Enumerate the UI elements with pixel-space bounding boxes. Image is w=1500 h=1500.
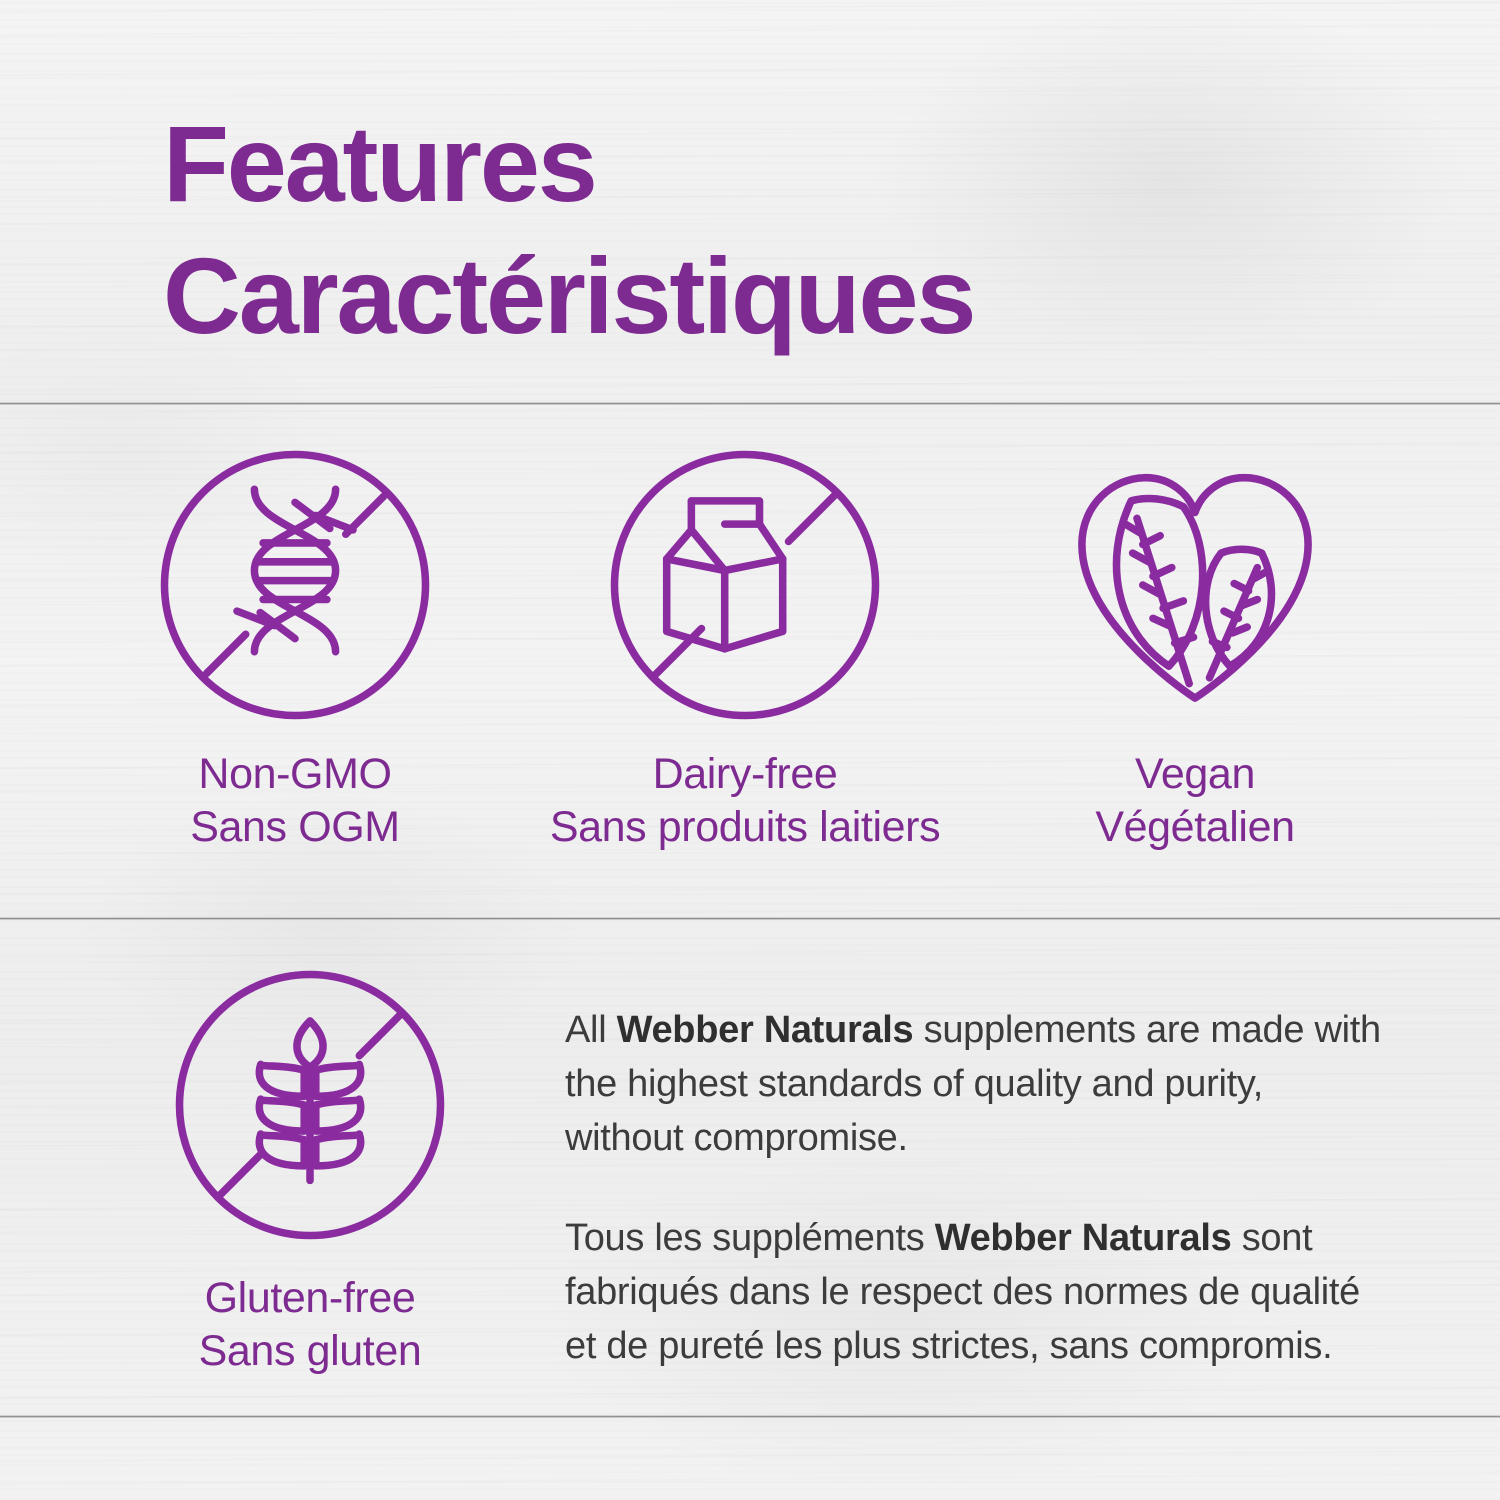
feature-label-gluten-free: Gluten-free Sans gluten bbox=[199, 1272, 422, 1378]
feature-label-fr: Sans gluten bbox=[199, 1325, 422, 1378]
no-dairy-milk-carton-icon bbox=[595, 440, 895, 730]
feature-gluten-free: Gluten-free Sans gluten bbox=[75, 960, 545, 1378]
no-gmo-dna-icon bbox=[145, 440, 445, 730]
features-row-top: Non-GMO Sans OGM Dairy- bbox=[0, 440, 1500, 854]
quality-statement-french: Tous les suppléments Webber Naturals son… bbox=[565, 1212, 1390, 1374]
feature-non-gmo: Non-GMO Sans OGM bbox=[75, 440, 515, 854]
page-title-french: Caractéristiques bbox=[163, 230, 1363, 362]
feature-label-en: Gluten-free bbox=[199, 1272, 422, 1325]
feature-label-en: Dairy-free bbox=[550, 748, 940, 801]
feature-label-vegan: Vegan Végétalien bbox=[1095, 748, 1294, 854]
quality-statement-english: All Webber Naturals supplements are made… bbox=[565, 1004, 1390, 1166]
features-panel: Features Caractéristiques bbox=[0, 0, 1500, 1500]
plank-divider-3 bbox=[0, 1415, 1500, 1418]
feature-label-fr: Sans OGM bbox=[190, 801, 399, 854]
vegan-heart-leaf-icon bbox=[1045, 440, 1345, 730]
plank-divider-1 bbox=[0, 402, 1500, 405]
feature-dairy-free: Dairy-free Sans produits laitiers bbox=[525, 440, 965, 854]
feature-label-fr: Végétalien bbox=[1095, 801, 1294, 854]
brand-name-fr: Webber Naturals bbox=[935, 1217, 1232, 1259]
feature-label-en: Non-GMO bbox=[190, 748, 399, 801]
features-row-bottom: Gluten-free Sans gluten All Webber Natur… bbox=[0, 960, 1500, 1378]
page-title-english: Features bbox=[163, 98, 1363, 230]
plank-divider-2 bbox=[0, 917, 1500, 920]
para-en-pre: All bbox=[565, 1009, 617, 1051]
no-gluten-wheat-icon bbox=[160, 960, 460, 1250]
para-fr-pre: Tous les suppléments bbox=[565, 1217, 935, 1259]
feature-label-fr: Sans produits laitiers bbox=[550, 801, 940, 854]
feature-vegan: Vegan Végétalien bbox=[975, 440, 1415, 854]
feature-label-dairy-free: Dairy-free Sans produits laitiers bbox=[550, 748, 940, 854]
feature-label-en: Vegan bbox=[1095, 748, 1294, 801]
feature-label-non-gmo: Non-GMO Sans OGM bbox=[190, 748, 399, 854]
quality-statement: All Webber Naturals supplements are made… bbox=[565, 1004, 1500, 1378]
page-title: Features Caractéristiques bbox=[163, 98, 1363, 362]
brand-name-en: Webber Naturals bbox=[617, 1009, 914, 1051]
